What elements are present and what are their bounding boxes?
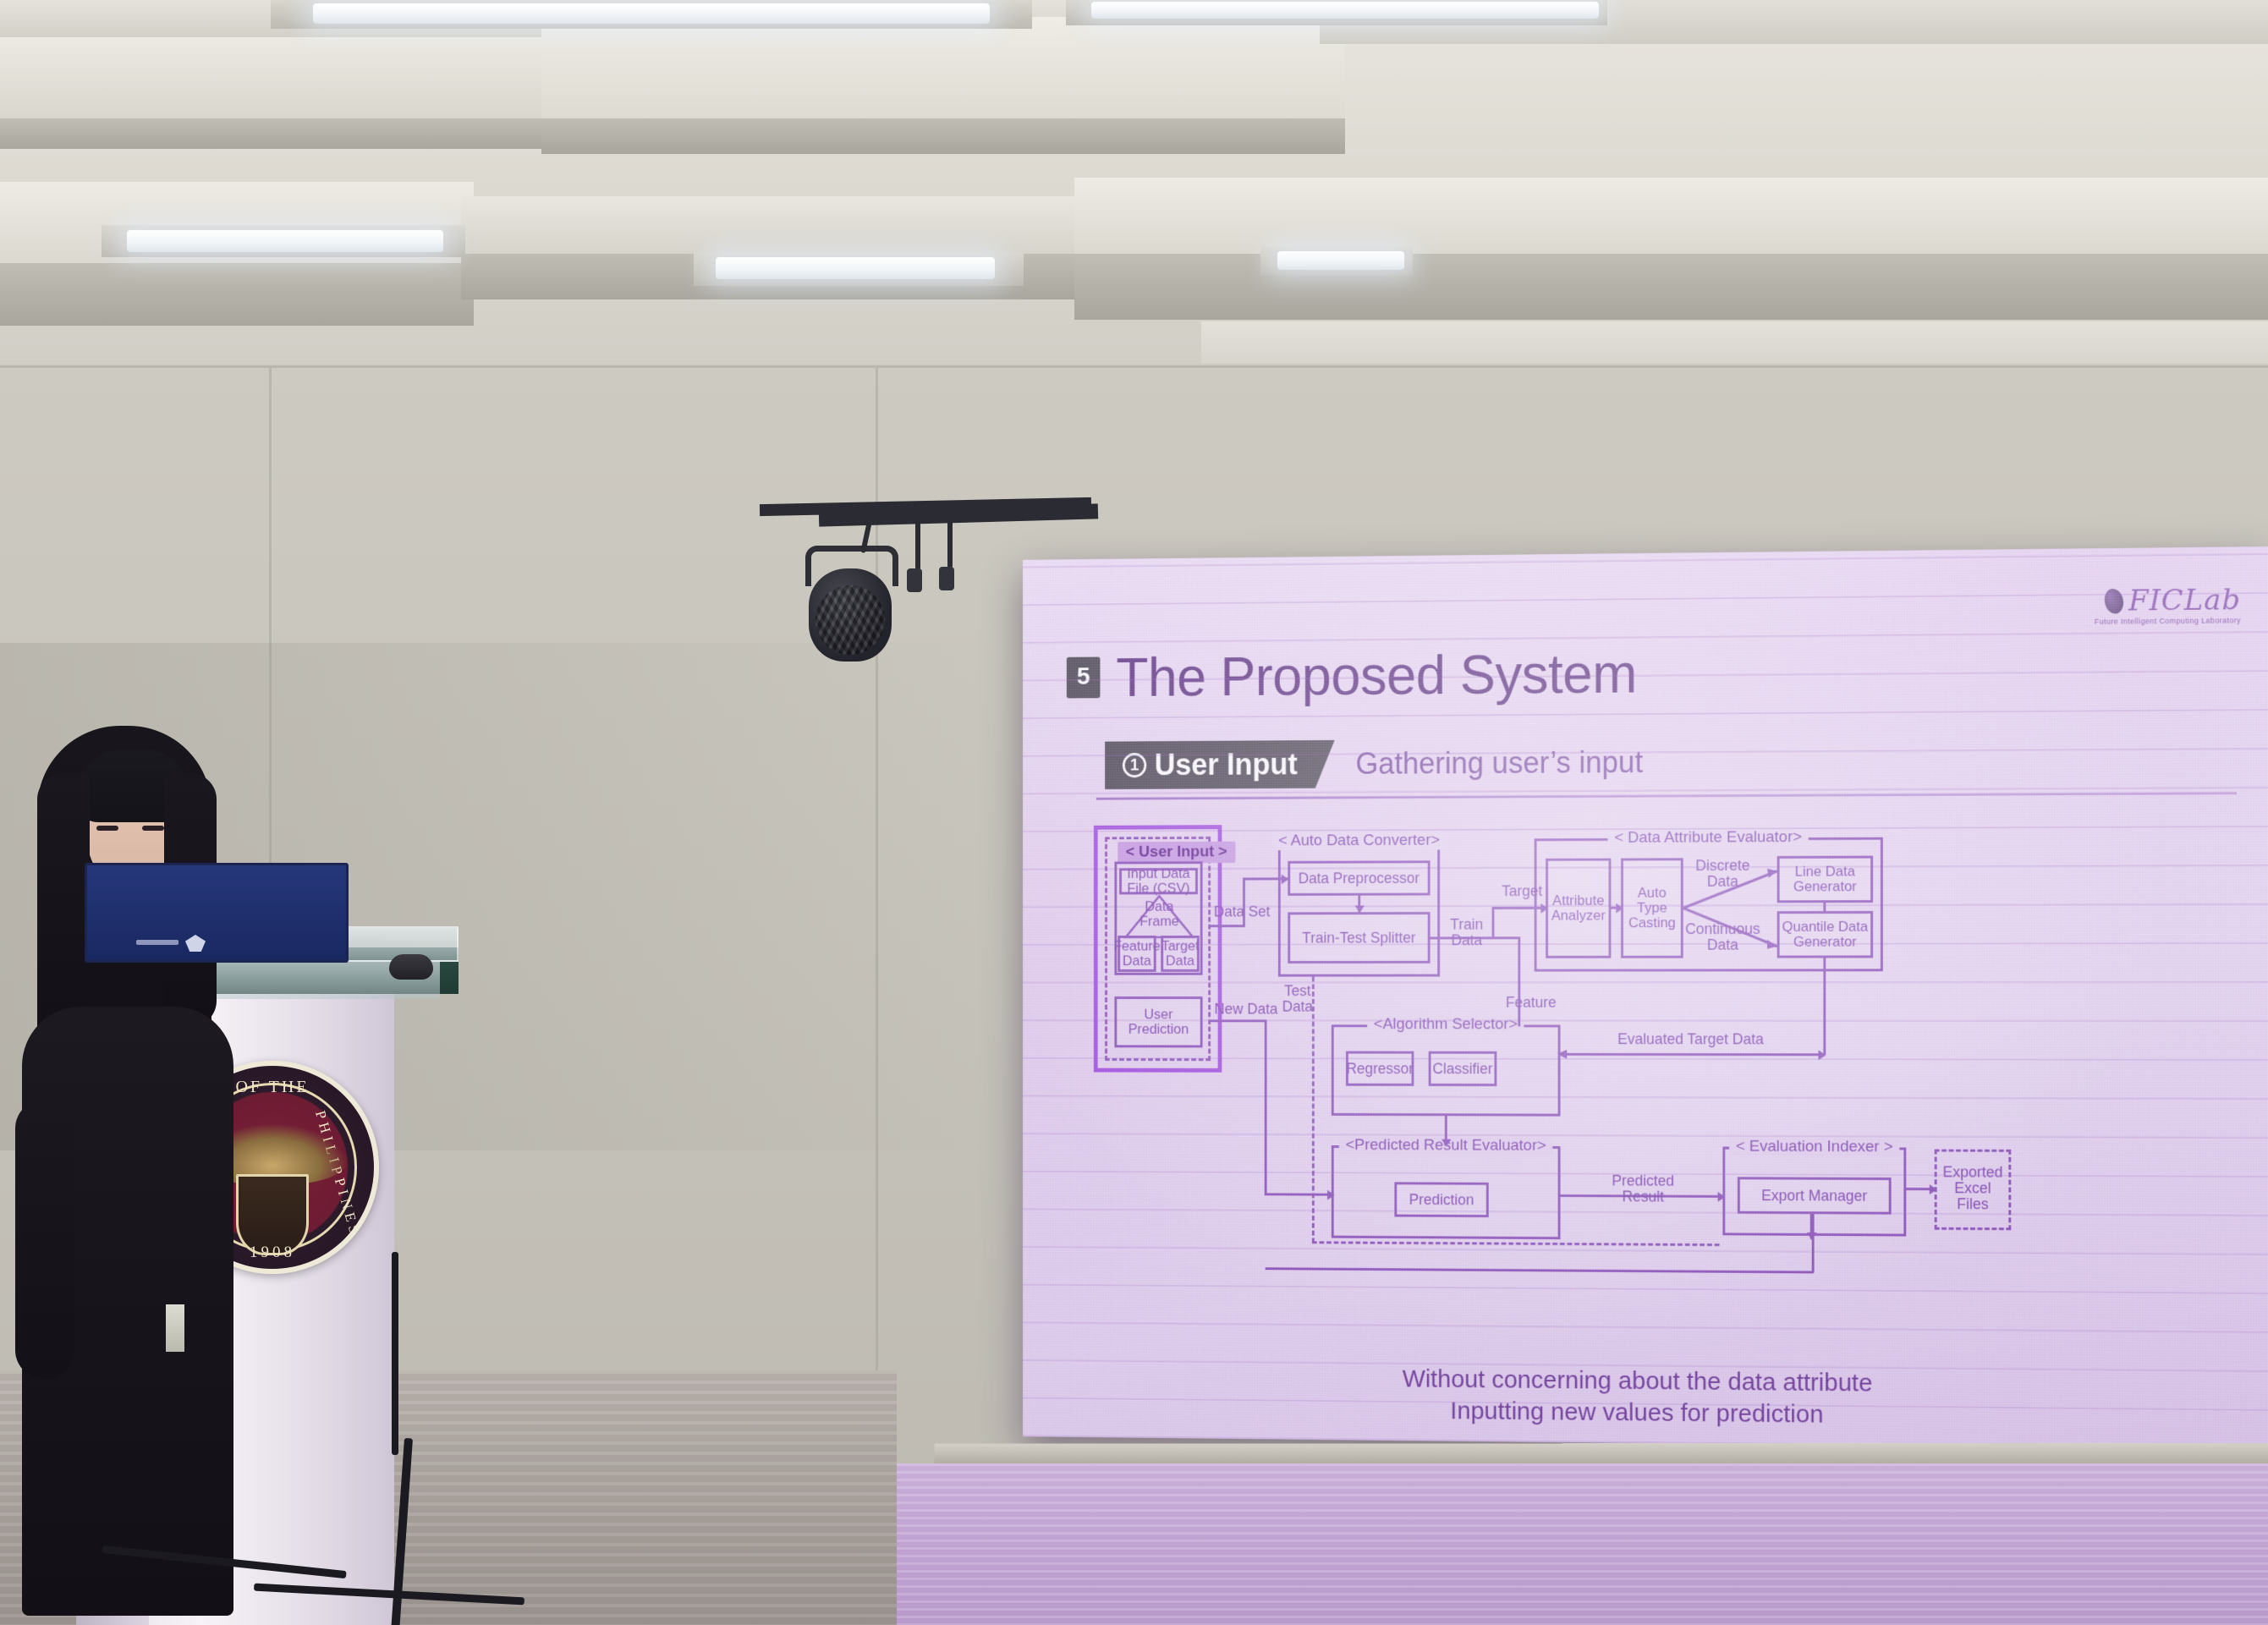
stage-floor — [876, 1463, 2268, 1625]
edge-label-train-data: TrainData — [1442, 917, 1492, 949]
edge-test-data-dashed-h — [1312, 1241, 1720, 1246]
conference-room: FICLab Future Intelligent Computing Labo… — [0, 0, 2268, 1625]
edge-label-test-data: TestData — [1271, 983, 1323, 1014]
user-input-group-label: < User Input > — [1118, 842, 1235, 864]
ceiling-slab-2 — [0, 37, 567, 118]
presenter-eye-left — [96, 826, 118, 831]
logo-text: FICLab — [2128, 585, 2241, 615]
edge-feedback-h — [1266, 1267, 1814, 1273]
edge-dataset-h1 — [1211, 925, 1244, 927]
laptop-logo-icon — [185, 935, 206, 952]
presentation-screen[interactable]: FICLab Future Intelligent Computing Labo… — [1023, 546, 2268, 1450]
lamp-plug-1 — [907, 568, 922, 592]
node-feature-data: FeatureData — [1118, 936, 1156, 972]
group-evaluation-indexer-label: < Evaluation Indexer > — [1729, 1138, 1899, 1156]
ceiling-light-5 — [1277, 251, 1404, 270]
ceiling-slab-7-face — [1074, 254, 2268, 320]
edge-target-v — [1492, 907, 1495, 938]
node-exported-excel-files-label: ExportedExcelFiles — [1938, 1164, 2008, 1212]
ceiling-slab-3 — [541, 17, 1345, 118]
lamp-plug-2 — [939, 567, 954, 590]
ceiling-slab-2-face — [0, 118, 567, 149]
edge-dataset-h2 — [1243, 877, 1288, 880]
node-prediction: Prediction — [1394, 1182, 1488, 1217]
edge-feature-v — [1518, 936, 1520, 1026]
node-target-data: TargetData — [1161, 936, 1199, 972]
node-user-prediction: User Prediction — [1114, 996, 1202, 1047]
edge-preprocessor-to-splitter — [1358, 896, 1360, 913]
ceiling-slab-6 — [461, 196, 1104, 255]
system-architecture-diagram: < User Input > Input Data File (CSV) Dat… — [1090, 817, 2239, 1350]
node-data-preprocessor: Data Preprocessor — [1288, 860, 1430, 896]
edge-label-discrete-data: DiscreteData — [1689, 858, 1755, 890]
edge-label-continuous-data: ContinuousData — [1685, 921, 1761, 953]
ceiling-light-4 — [716, 257, 995, 279]
edge-label-target: Target — [1495, 883, 1549, 899]
edge-label-evaluated-target-data: Evaluated Target Data — [1605, 1031, 1777, 1047]
slide-content: FICLab Future Intelligent Computing Labo… — [1023, 546, 2268, 1450]
wall-cable — [392, 1252, 398, 1455]
edge-newdata-h — [1211, 1019, 1267, 1022]
lamp-cable-2 — [915, 518, 920, 570]
edge-label-data-set: Data Set — [1212, 904, 1271, 920]
subsection-number-icon: 1 — [1123, 753, 1146, 777]
node-train-test-splitter: Train-Test Splitter — [1288, 912, 1430, 963]
edge-analyzer-to-casting — [1611, 907, 1623, 909]
subsection-description: Gathering user’s input — [1355, 745, 1643, 782]
lamp-grille — [815, 585, 885, 655]
slide-title-row: 5 The Proposed System — [1067, 641, 1637, 709]
node-line-data-generator: Line DataGenerator — [1777, 856, 1873, 903]
node-regressor: Regressor — [1346, 1051, 1414, 1086]
node-data-frame-label: DataFrame — [1132, 899, 1186, 929]
ceiling-light-3 — [127, 230, 443, 252]
group-algorithm-selector-label: <Algorithm Selector> — [1367, 1016, 1524, 1035]
logo-mark-icon — [2103, 587, 2127, 616]
edge-evaluated-v — [1823, 958, 1826, 1056]
edge-test-data-dashed — [1312, 977, 1315, 1243]
edge-line-to-quantile — [1823, 903, 1826, 913]
presenter — [15, 702, 269, 1625]
lamp-cable-3 — [947, 519, 953, 568]
ceiling-slab-3-face — [541, 118, 1345, 154]
ceiling-slab-7 — [1074, 178, 2268, 255]
edge-label-feature: Feature — [1498, 995, 1563, 1011]
presenter-eye-right — [142, 826, 164, 831]
group-auto-data-converter-label: < Auto Data Converter> — [1271, 832, 1446, 850]
subsection-label: User Input — [1155, 747, 1298, 782]
edge-selector-to-evaluator — [1445, 1116, 1447, 1145]
group-data-attribute-evaluator-label: < Data Attribute Evaluator> — [1607, 828, 1808, 848]
edge-label-new-data: New Data — [1212, 1002, 1280, 1018]
node-attribute-analyzer: AttributeAnalyzer — [1546, 859, 1611, 958]
logo-tagline: Future Intelligent Computing Laboratory — [2095, 616, 2241, 626]
edge-evaluated-h — [1561, 1053, 1826, 1056]
slide-notes: Without concerning about the data attrib… — [1023, 1360, 2268, 1436]
node-input-data-file: Input Data File (CSV) — [1119, 868, 1198, 894]
mouse[interactable] — [389, 954, 433, 980]
node-auto-type-casting: AutoTypeCasting — [1621, 858, 1683, 958]
ceiling-light-2 — [1091, 2, 1599, 19]
node-classifier: Classifier — [1429, 1051, 1497, 1086]
edge-newdata-v — [1265, 1019, 1267, 1194]
laptop-brand-text — [136, 940, 178, 945]
laptop[interactable] — [85, 863, 349, 963]
page-title: The Proposed System — [1116, 641, 1637, 708]
node-quantile-data-generator: Quantile DataGenerator — [1777, 911, 1873, 958]
wall-seam-3 — [876, 368, 878, 1451]
subsection-row: 1 User Input Gathering user’s input — [1105, 738, 1643, 789]
section-number: 5 — [1077, 662, 1090, 690]
title-divider — [1096, 792, 2237, 800]
edge-export-to-excel — [1906, 1188, 1936, 1190]
subsection-tag: 1 User Input — [1105, 740, 1335, 789]
ficlab-logo: FICLab — [2105, 585, 2241, 615]
edge-target-h — [1492, 907, 1548, 909]
edge-export-down — [1810, 1214, 1813, 1239]
wall-seam-1 — [0, 365, 2268, 368]
node-export-manager: Export Manager — [1738, 1177, 1892, 1214]
presenter-arm — [15, 1100, 74, 1379]
edge-newdata-h2 — [1265, 1193, 1334, 1195]
ceiling-slab-5-face — [0, 263, 474, 326]
presenter-badge — [166, 1304, 184, 1352]
edge-label-predicted-result: PredictedResult — [1582, 1173, 1705, 1205]
edge-evaluated-arrowhead-icon — [1556, 1048, 1568, 1062]
section-number-badge: 5 — [1067, 657, 1101, 699]
ceiling-light-1 — [313, 3, 990, 24]
